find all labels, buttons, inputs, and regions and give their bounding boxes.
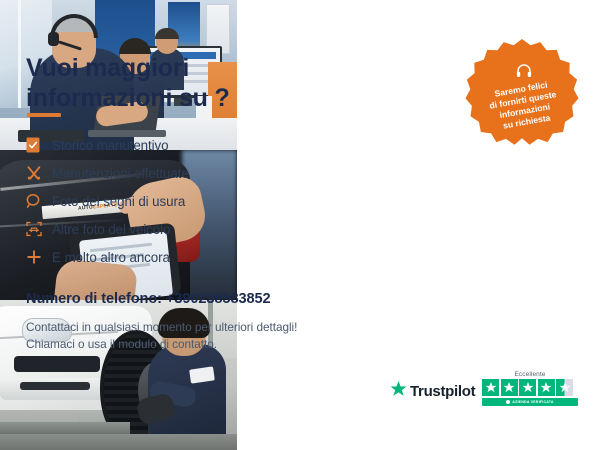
magnifier-icon [26,193,52,209]
callout-burst-badge: Saremo felici di fornirti queste informa… [463,36,581,154]
list-item-manutenzioni-effettuate: Manutenzioni effettuate [26,159,326,187]
verified-badge-text: AZIENDA VERIFICATA [512,400,553,404]
title-underline-rule [27,113,61,117]
star-full [538,379,555,396]
trustpilot-widget[interactable]: Trustpilot Eccellente [382,371,578,415]
list-item-label: Altre foto del veicolo [52,222,170,237]
contact-text-line-2: Chiamaci o usa il modulo di contatto. [26,337,217,351]
headset-icon [515,62,533,80]
verified-badge: AZIENDA VERIFICATA [482,398,578,406]
list-item-storico-manutentivo: Storico manutentivo [26,131,326,159]
trustpilot-brand-text: Trustpilot [410,383,475,400]
phone-number-line: Numero di telefono: +390238583852 [26,291,271,307]
verified-check-icon [506,400,510,404]
page-title: Vuoi maggiori informazioni su ? [26,53,241,114]
rating-stars [482,379,578,396]
promo-banner: AUTOESPERTO [0,0,600,450]
garage-floor [0,434,237,450]
feature-list: Storico manutentivo Manutenzioni effettu… [26,131,326,271]
list-item-altre-foto-veicolo: Altre foto del veicolo [26,215,326,243]
list-item-label: E molto altro ancora [52,250,170,265]
phone-label: Numero di telefono: [26,291,162,307]
headset-earcup [48,32,59,46]
trustpilot-logo: Trustpilot [390,381,475,402]
list-item-molto-altro-ancora: E molto altro ancora [26,243,326,271]
list-item-foto-segni-usura: Foto dei segni di usura [26,187,326,215]
car-grille [14,356,100,372]
list-item-label: Foto dei segni di usura [52,194,185,209]
list-item-label: Manutenzioni effettuate [52,166,189,181]
phone-number[interactable]: +390238583852 [166,291,271,307]
vehicle-lift-arm [0,422,130,434]
star-full [482,379,499,396]
window-frame [18,0,21,108]
tools-icon [26,165,52,181]
rating-label: Eccellente [482,371,578,378]
star-full [501,379,518,396]
plus-icon [26,249,52,265]
trustpilot-rating-block: Eccellente AZIEND [482,371,578,406]
checklist-icon [26,137,52,153]
list-item-label: Storico manutentivo [52,138,168,153]
trustpilot-star-icon [390,381,407,402]
contact-text-line-1: Contattaci in qualsiasi momento per ulte… [26,320,297,334]
lower-grille [20,382,90,390]
star-full [519,379,536,396]
car-frame-icon [26,221,52,237]
star-half [556,379,573,396]
